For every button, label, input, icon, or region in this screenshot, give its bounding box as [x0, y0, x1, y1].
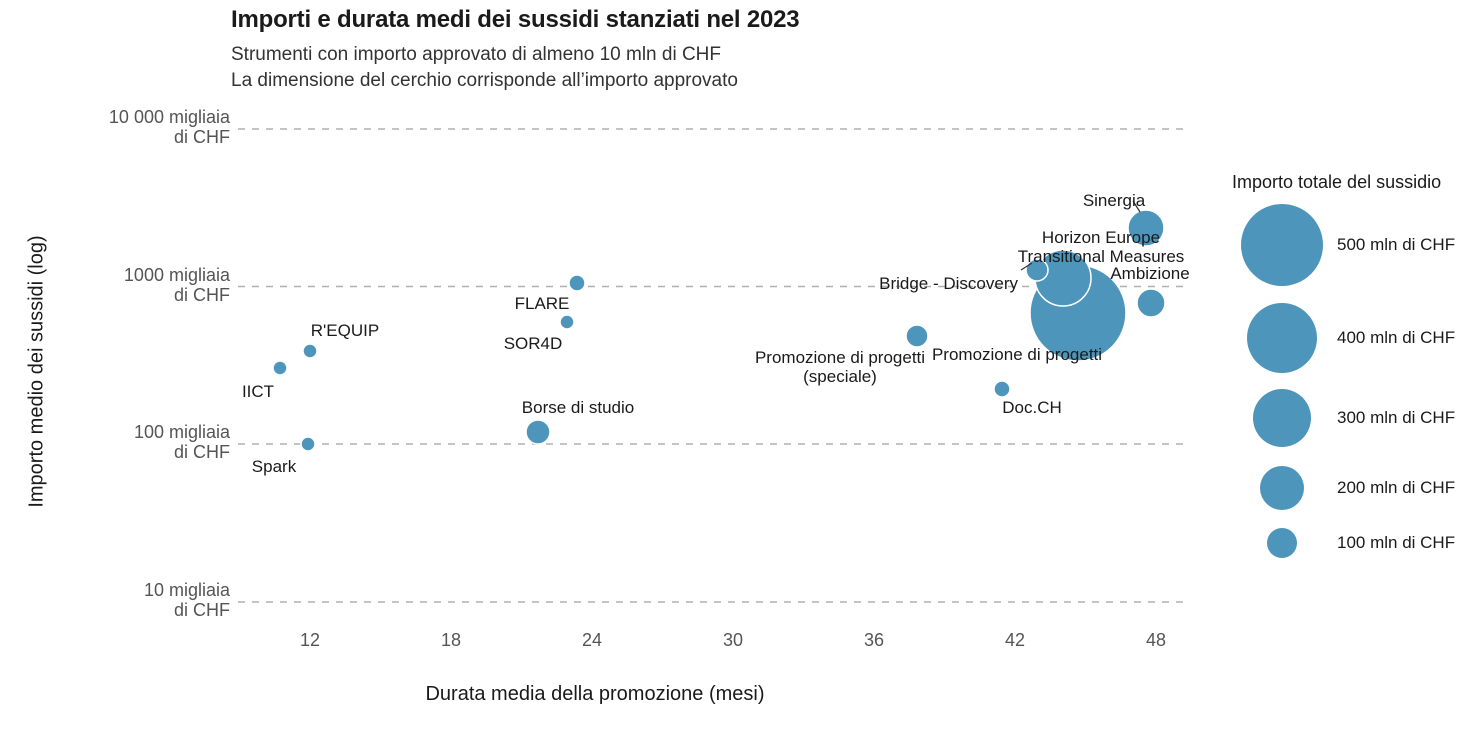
point-label-promozione-di-progetti: Promozione di progetti — [932, 345, 1102, 364]
point-label-promozione-di-progetti-speciale: Promozione di progetti(speciale) — [755, 348, 925, 386]
legend-title: Importo totale del sussidio — [1232, 172, 1441, 193]
bubble-iict[interactable] — [273, 361, 287, 375]
point-label-borse-di-studio: Borse di studio — [522, 398, 634, 417]
x-tick-label-24: 24 — [582, 630, 602, 651]
legend-bubble-500 — [1241, 204, 1323, 286]
point-label-ambizione: Ambizione — [1110, 264, 1189, 283]
point-label-doc-ch: Doc.CH — [1002, 398, 1062, 417]
point-label-iict: IICT — [242, 382, 274, 401]
y-axis-title: Importo medio dei sussidi (log) — [26, 92, 49, 652]
x-tick-label-30: 30 — [723, 630, 743, 651]
bubble-doc-ch[interactable] — [994, 381, 1010, 397]
x-tick-label-36: 36 — [864, 630, 884, 651]
legend-label-300: 300 mln di CHF — [1337, 408, 1455, 428]
bubble-r-equip[interactable] — [303, 344, 317, 358]
bubble-flare[interactable] — [569, 275, 585, 291]
x-tick-label-48: 48 — [1146, 630, 1166, 651]
bubble-borse-di-studio[interactable] — [526, 420, 550, 444]
legend-bubble-300 — [1253, 389, 1311, 447]
legend-label-200: 200 mln di CHF — [1337, 478, 1455, 498]
legend-bubble-200 — [1260, 466, 1304, 510]
point-label-spark: Spark — [252, 457, 296, 476]
legend-bubble-400 — [1247, 303, 1317, 373]
y-tick-label-10000: 10 000 migliaiadi CHF — [70, 107, 230, 147]
point-label-bridge-discovery: Bridge - Discovery — [879, 274, 1018, 293]
legend-label-500: 500 mln di CHF — [1337, 235, 1455, 255]
bubble-sor4d[interactable] — [560, 315, 574, 329]
chart-root: Importi e durata medi dei sussidi stanzi… — [0, 0, 1482, 741]
y-tick-label-100: 100 migliaiadi CHF — [70, 422, 230, 462]
x-tick-label-12: 12 — [300, 630, 320, 651]
legend-bubble-100 — [1267, 528, 1297, 558]
x-axis-title: Durata media della promozione (mesi) — [0, 683, 1190, 706]
bubble-spark[interactable] — [301, 437, 315, 451]
y-tick-label-1000: 1000 migliaiadi CHF — [70, 265, 230, 305]
point-label-sor4d: SOR4D — [504, 334, 563, 353]
y-tick-label-10: 10 migliaiadi CHF — [70, 580, 230, 620]
point-label-r-equip: R'EQUIP — [311, 321, 379, 340]
x-tick-label-18: 18 — [441, 630, 461, 651]
point-label-horizon-europe-transitional-measures: Horizon EuropeTransitional Measures — [1018, 228, 1185, 266]
legend-label-400: 400 mln di CHF — [1337, 328, 1455, 348]
point-label-flare: FLARE — [515, 294, 570, 313]
legend-label-100: 100 mln di CHF — [1337, 533, 1455, 553]
point-label-sinergia: Sinergia — [1083, 191, 1145, 210]
bubble-ambizione[interactable] — [1137, 289, 1165, 317]
x-tick-label-42: 42 — [1005, 630, 1025, 651]
bubble-promozione-di-progetti-speciale[interactable] — [906, 325, 928, 347]
